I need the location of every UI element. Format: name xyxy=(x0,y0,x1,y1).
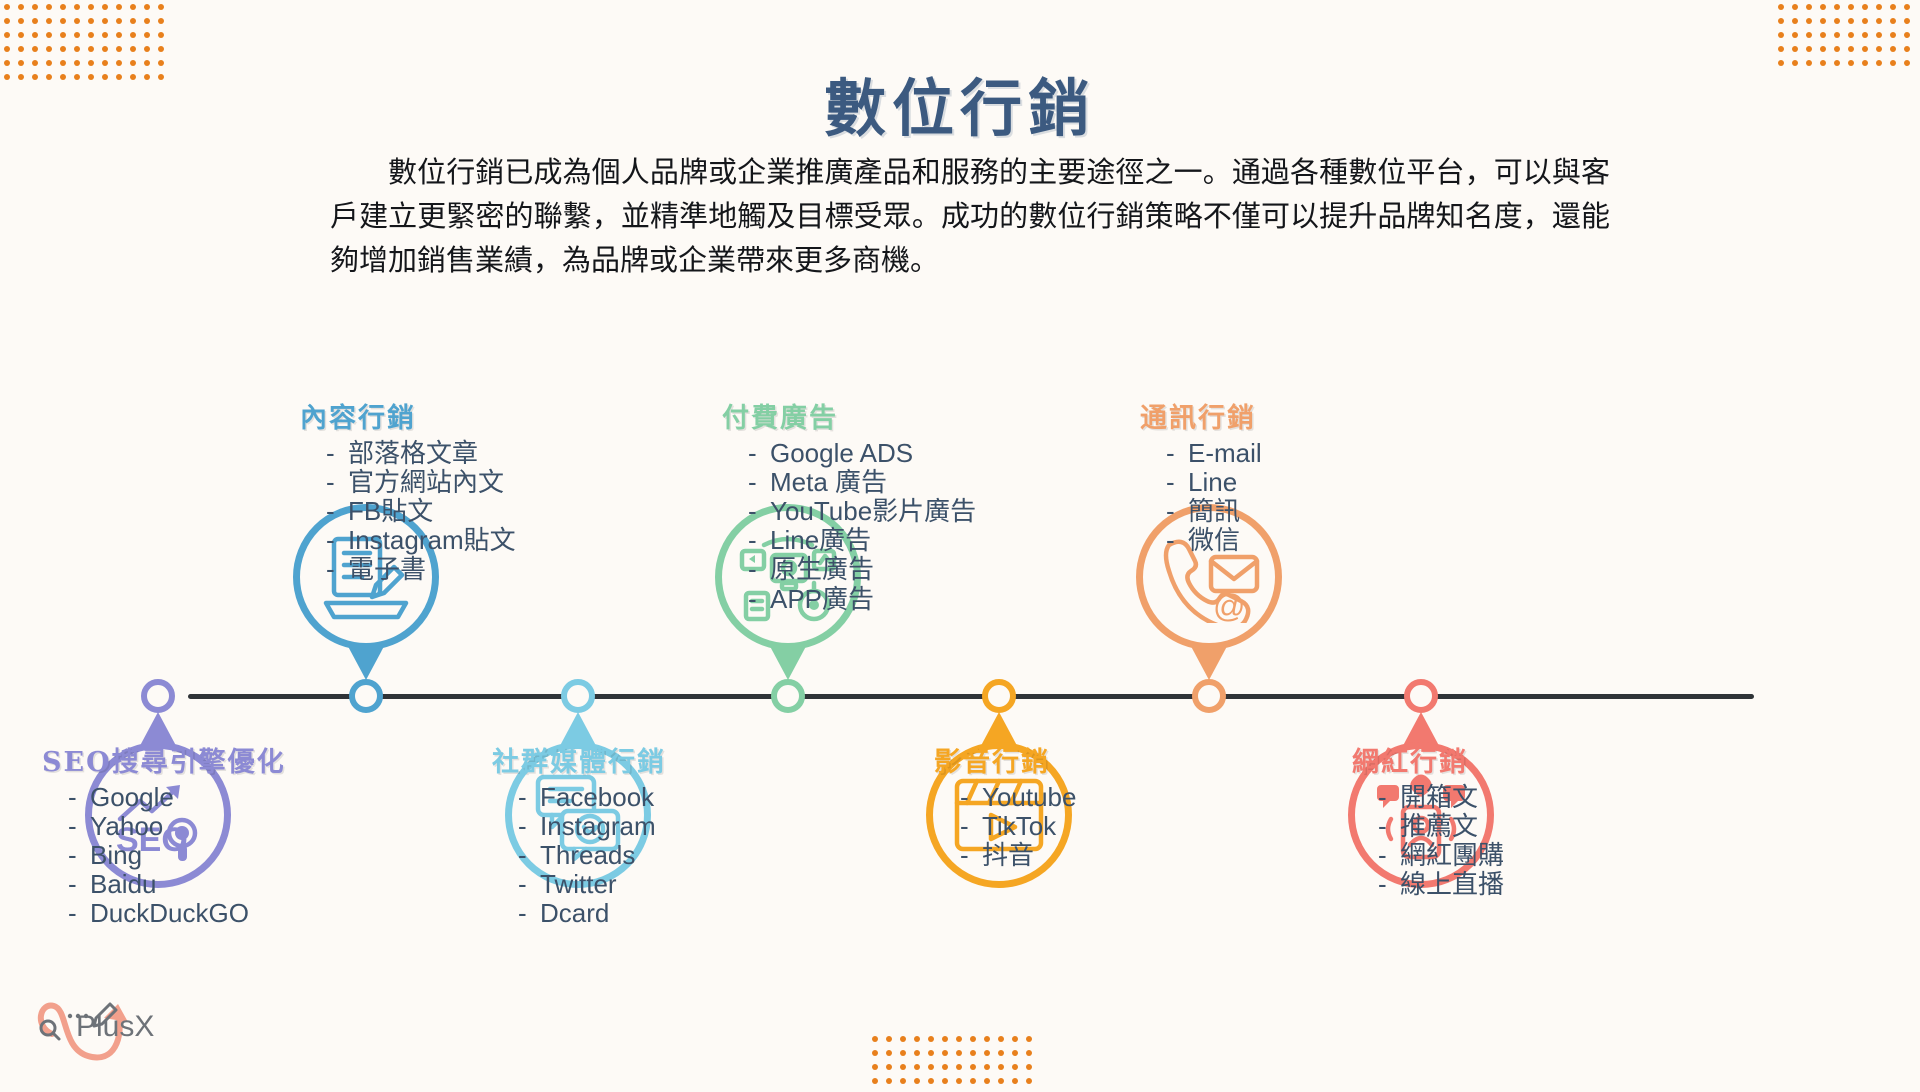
section-list-social: FacebookInstagramThreadsTwitterDcard xyxy=(518,783,666,929)
section-list-seo: GoogleYahooBingBaiduDuckDuckGO xyxy=(68,783,286,929)
list-item: E-mail xyxy=(1166,439,1262,468)
plusx-logo: PlusX xyxy=(18,982,168,1068)
list-item: Instagram xyxy=(518,812,666,841)
list-item: 推薦文 xyxy=(1378,812,1504,841)
list-item: Facebook xyxy=(518,783,666,812)
list-item: Youtube xyxy=(960,783,1076,812)
infographic-canvas: 數位行銷 數位行銷已成為個人品牌或企業推廣產品和服務的主要途徑之一。通過各種數位… xyxy=(0,0,1920,1080)
timeline-node-video[interactable] xyxy=(982,679,1016,713)
list-item: DuckDuckGO xyxy=(68,899,286,928)
timeline-node-paid-ads[interactable] xyxy=(771,679,805,713)
section-list-paid-ads: Google ADSMeta 廣告YouTube影片廣告Line廣告原生廣告AP… xyxy=(748,439,976,614)
section-title-messaging: 通訊行銷 xyxy=(1140,396,1262,435)
list-item: 抖音 xyxy=(960,841,1076,870)
list-item: Threads xyxy=(518,841,666,870)
list-item: Dcard xyxy=(518,899,666,928)
list-item: TikTok xyxy=(960,812,1076,841)
list-item: Twitter xyxy=(518,870,666,899)
svg-text:@: @ xyxy=(1213,588,1245,623)
intro-paragraph: 數位行銷已成為個人品牌或企業推廣產品和服務的主要途徑之一。通過各種數位平台，可以… xyxy=(330,150,1610,282)
list-item: Google xyxy=(68,783,286,812)
list-item: 部落格文章 xyxy=(326,439,516,468)
section-title-video: 影音行銷 xyxy=(934,740,1076,779)
list-item: Yahoo xyxy=(68,812,286,841)
section-block-social: 社群媒體行銷FacebookInstagramThreadsTwitterDca… xyxy=(492,740,666,929)
list-item: Baidu xyxy=(68,870,286,899)
section-block-seo: SEO搜尋引擎優化GoogleYahooBingBaiduDuckDuckGO xyxy=(42,740,286,929)
timeline-node-messaging[interactable] xyxy=(1192,679,1226,713)
list-item: 開箱文 xyxy=(1378,783,1504,812)
page-title: 數位行銷 xyxy=(0,58,1920,148)
list-item: 簡訊 xyxy=(1166,497,1262,526)
section-title-content: 內容行銷 xyxy=(300,396,516,435)
list-item: Meta 廣告 xyxy=(748,468,976,497)
section-block-paid-ads: 付費廣告Google ADSMeta 廣告YouTube影片廣告Line廣告原生… xyxy=(722,396,976,614)
dot-pattern-bottom xyxy=(872,1036,1040,1092)
section-block-messaging: 通訊行銷E-mailLine簡訊微信 xyxy=(1140,396,1262,555)
section-block-content: 內容行銷部落格文章官方網站內文FB貼文Instagram貼文電子書 xyxy=(300,396,516,585)
timeline-node-seo[interactable] xyxy=(141,679,175,713)
section-title-influencer: 網紅行銷 xyxy=(1352,740,1504,779)
list-item: 線上直播 xyxy=(1378,870,1504,899)
list-item: FB貼文 xyxy=(326,497,516,526)
section-title-paid-ads: 付費廣告 xyxy=(722,396,976,435)
list-item: Instagram貼文 xyxy=(326,526,516,555)
section-list-video: YoutubeTikTok抖音 xyxy=(960,783,1076,870)
logo-text: PlusX xyxy=(76,1010,154,1044)
list-item: Line xyxy=(1166,468,1262,497)
list-item: 網紅團購 xyxy=(1378,841,1504,870)
section-block-influencer: 網紅行銷開箱文推薦文網紅團購線上直播 xyxy=(1352,740,1504,899)
section-list-influencer: 開箱文推薦文網紅團購線上直播 xyxy=(1378,783,1504,899)
list-item: Google ADS xyxy=(748,439,976,468)
list-item: Bing xyxy=(68,841,286,870)
section-title-seo: SEO搜尋引擎優化 xyxy=(42,740,286,779)
list-item: APP廣告 xyxy=(748,585,976,614)
timeline-node-social[interactable] xyxy=(561,679,595,713)
list-item: Line廣告 xyxy=(748,526,976,555)
section-block-video: 影音行銷YoutubeTikTok抖音 xyxy=(934,740,1076,870)
intro-text: 數位行銷已成為個人品牌或企業推廣產品和服務的主要途徑之一。通過各種數位平台，可以… xyxy=(330,150,1610,282)
timeline-node-content[interactable] xyxy=(349,679,383,713)
list-item: YouTube影片廣告 xyxy=(748,497,976,526)
list-item: 原生廣告 xyxy=(748,555,976,584)
list-item: 官方網站內文 xyxy=(326,468,516,497)
timeline-node-influencer[interactable] xyxy=(1404,679,1438,713)
list-item: 微信 xyxy=(1166,526,1262,555)
section-title-social: 社群媒體行銷 xyxy=(492,740,666,779)
section-list-messaging: E-mailLine簡訊微信 xyxy=(1166,439,1262,555)
list-item: 電子書 xyxy=(326,555,516,584)
timeline-axis xyxy=(188,694,1754,699)
section-list-content: 部落格文章官方網站內文FB貼文Instagram貼文電子書 xyxy=(326,439,516,585)
